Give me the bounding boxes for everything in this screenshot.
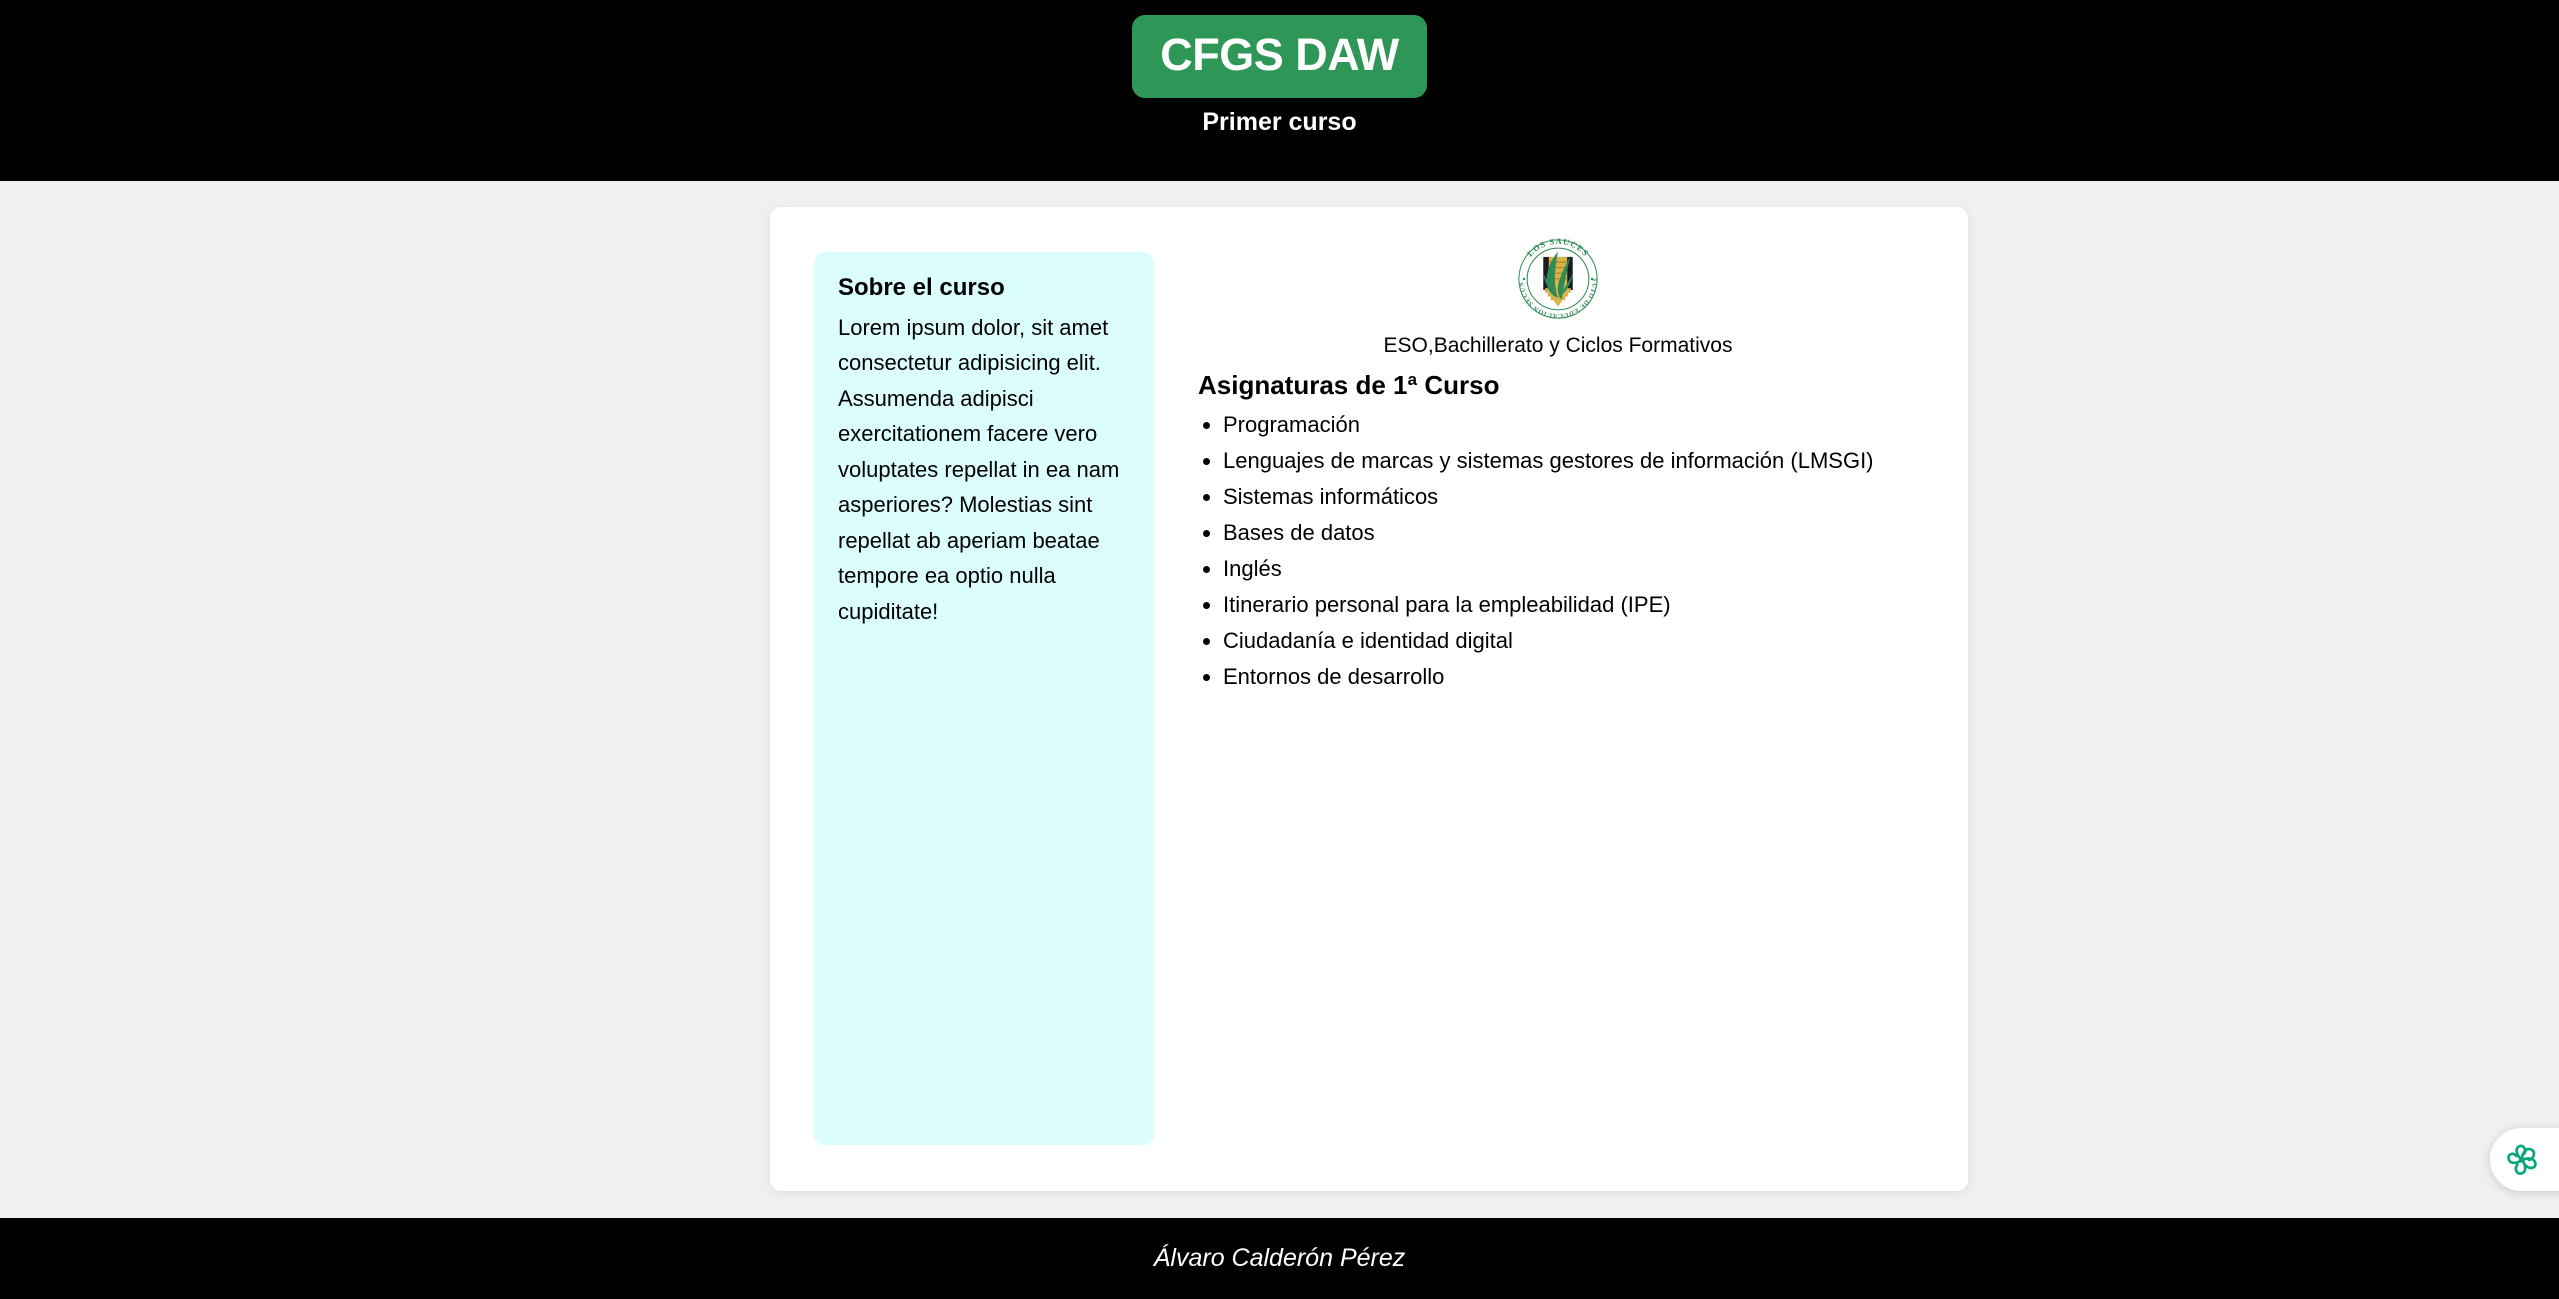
about-course-panel: Sobre el curso Lorem ipsum dolor, sit am… [814,252,1154,1145]
list-item: Inglés [1223,551,1938,587]
school-crest-logo: LOS SAUCES INSTITUTO DE EDUCACION SECUND… [1508,233,1608,325]
page-title-badge: CFGS DAW [1132,15,1427,98]
list-item: Bases de datos [1223,515,1938,551]
list-item: Entornos de desarrollo [1223,659,1938,695]
about-course-title: Sobre el curso [838,274,1130,303]
subjects-list: Programación Lenguajes de marcas y siste… [1178,407,1938,695]
site-footer: Álvaro Calderón Pérez [0,1218,2559,1299]
footer-author: Álvaro Calderón Pérez [1154,1246,1406,1271]
list-item: Ciudadanía e identidad digital [1223,623,1938,659]
page-subtitle: Primer curso [1202,110,1356,135]
about-course-text: Lorem ipsum dolor, sit amet consectetur … [838,310,1130,630]
logo-container: LOS SAUCES INSTITUTO DE EDUCACION SECUND… [1178,233,1938,325]
list-item: Programación [1223,407,1938,443]
subjects-heading: Asignaturas de 1ª Curso [1198,370,1938,401]
school-name-line: ESO,Bachillerato y Ciclos Formativos [1178,333,1938,358]
course-content: LOS SAUCES INSTITUTO DE EDUCACION SECUND… [1178,233,1938,695]
list-item: Lenguajes de marcas y sistemas gestores … [1223,443,1938,479]
main-card: Sobre el curso Lorem ipsum dolor, sit am… [770,207,1968,1191]
site-header: CFGS DAW Primer curso [0,0,2559,181]
list-item: Itinerario personal para la empleabilida… [1223,587,1938,623]
assistant-widget-button[interactable] [2490,1128,2559,1191]
list-item: Sistemas informáticos [1223,479,1938,515]
assistant-spiral-icon[interactable] [2503,1141,2541,1179]
